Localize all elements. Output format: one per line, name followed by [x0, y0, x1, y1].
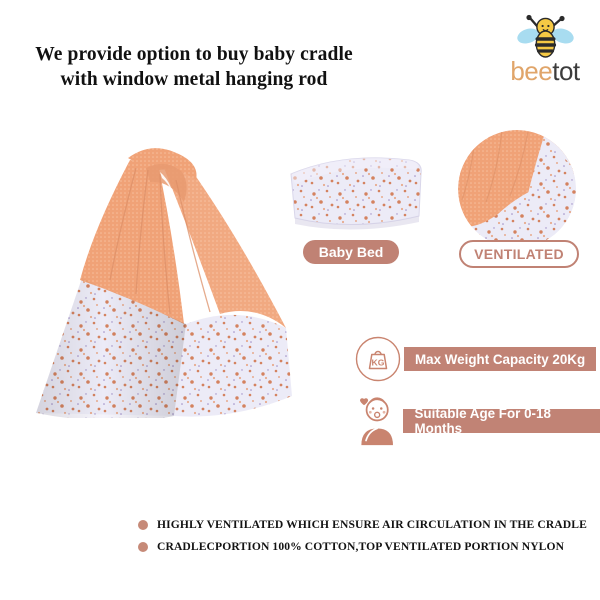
feature-suitable-age-bar: Suitable Age For 0-18 Months: [403, 409, 600, 433]
logo-text-tot: tot: [552, 56, 579, 86]
logo-text-bee: bee: [510, 56, 552, 86]
svg-text:KG: KG: [372, 358, 385, 368]
list-item: CRADLECPORTION 100% COTTON,TOP VENTILATE…: [138, 540, 590, 553]
feature-max-weight-bar: Max Weight Capacity 20Kg: [404, 347, 596, 371]
product-photo-baby-bed: [283, 140, 429, 238]
label-ventilated: VENTILATED: [459, 240, 579, 268]
label-baby-bed-text: Baby Bed: [319, 244, 384, 260]
bullet-text: CRADLECPORTION 100% COTTON,TOP VENTILATE…: [157, 540, 564, 553]
headline-line-1: We provide option to buy baby cradle: [35, 44, 352, 65]
infographic-canvas: We provide option to buy baby cradle wit…: [0, 0, 600, 600]
feature-bullet-list: HIGHLY VENTILATED WHICH ENSURE AIR CIRCU…: [138, 518, 590, 562]
feature-max-weight-text: Max Weight Capacity 20Kg: [415, 352, 585, 367]
feature-max-weight: KG Max Weight Capacity 20Kg: [355, 336, 596, 382]
product-photo-cradle: [24, 128, 314, 418]
label-baby-bed: Baby Bed: [303, 240, 399, 264]
bee-icon: [517, 14, 575, 60]
brand-logo: beetot: [495, 14, 595, 90]
swaddled-baby-icon: [353, 393, 399, 449]
list-item: HIGHLY VENTILATED WHICH ENSURE AIR CIRCU…: [138, 518, 590, 531]
headline-line-2: with window metal hanging rod: [61, 69, 328, 90]
weight-kg-icon: KG: [355, 336, 401, 382]
feature-suitable-age-text: Suitable Age For 0-18 Months: [414, 406, 589, 436]
feature-suitable-age: Suitable Age For 0-18 Months: [353, 393, 600, 449]
bullet-dot-icon: [138, 520, 148, 530]
bullet-text: HIGHLY VENTILATED WHICH ENSURE AIR CIRCU…: [157, 518, 587, 531]
logo-wordmark: beetot: [495, 58, 595, 84]
label-ventilated-text: VENTILATED: [474, 246, 564, 262]
page-title: We provide option to buy baby cradle wit…: [14, 42, 374, 92]
product-photo-ventilated: [458, 130, 576, 248]
bullet-dot-icon: [138, 542, 148, 552]
